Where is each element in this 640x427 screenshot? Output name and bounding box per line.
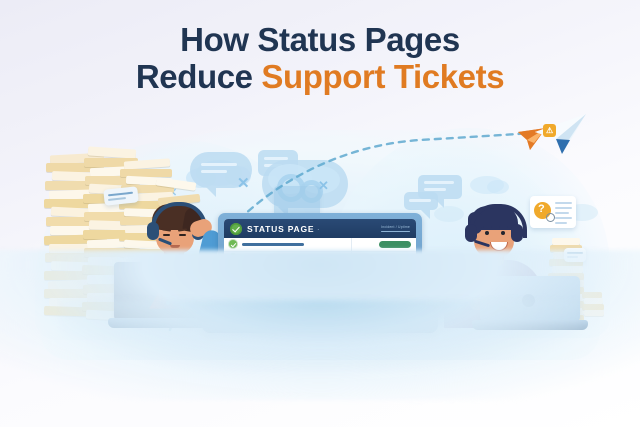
floor-shadow <box>60 300 580 370</box>
bubble-line <box>424 188 446 191</box>
plane-badge-glyph: ⚠ <box>546 126 553 135</box>
cloud-icon <box>487 180 509 194</box>
help-card-line <box>555 212 569 214</box>
ticket <box>124 158 170 169</box>
help-card-line <box>555 202 572 204</box>
status-page-header: STATUS PAGE . Incident / Uptime <box>224 219 416 238</box>
bubble-line <box>409 199 431 202</box>
status-page-meta: Incident / Uptime <box>381 225 410 232</box>
check-icon <box>229 240 237 248</box>
status-badge <box>379 241 411 248</box>
ticket <box>552 238 580 245</box>
help-card-line <box>555 222 567 224</box>
status-page-meta-text: Incident / Uptime <box>381 225 410 229</box>
illustration-canvas: How Status Pages Reduce Support Tickets … <box>0 0 640 427</box>
help-card-line <box>555 217 572 219</box>
status-page-title: STATUS PAGE <box>247 224 314 234</box>
service-name-bar <box>242 243 304 246</box>
white-paper-plane <box>532 112 590 156</box>
bubble-line <box>424 181 454 184</box>
status-page-meta-rule <box>381 231 410 233</box>
help-card-line <box>555 207 572 209</box>
green-check-circle-icon <box>230 223 242 235</box>
status-page-subtitle: . <box>317 226 319 232</box>
